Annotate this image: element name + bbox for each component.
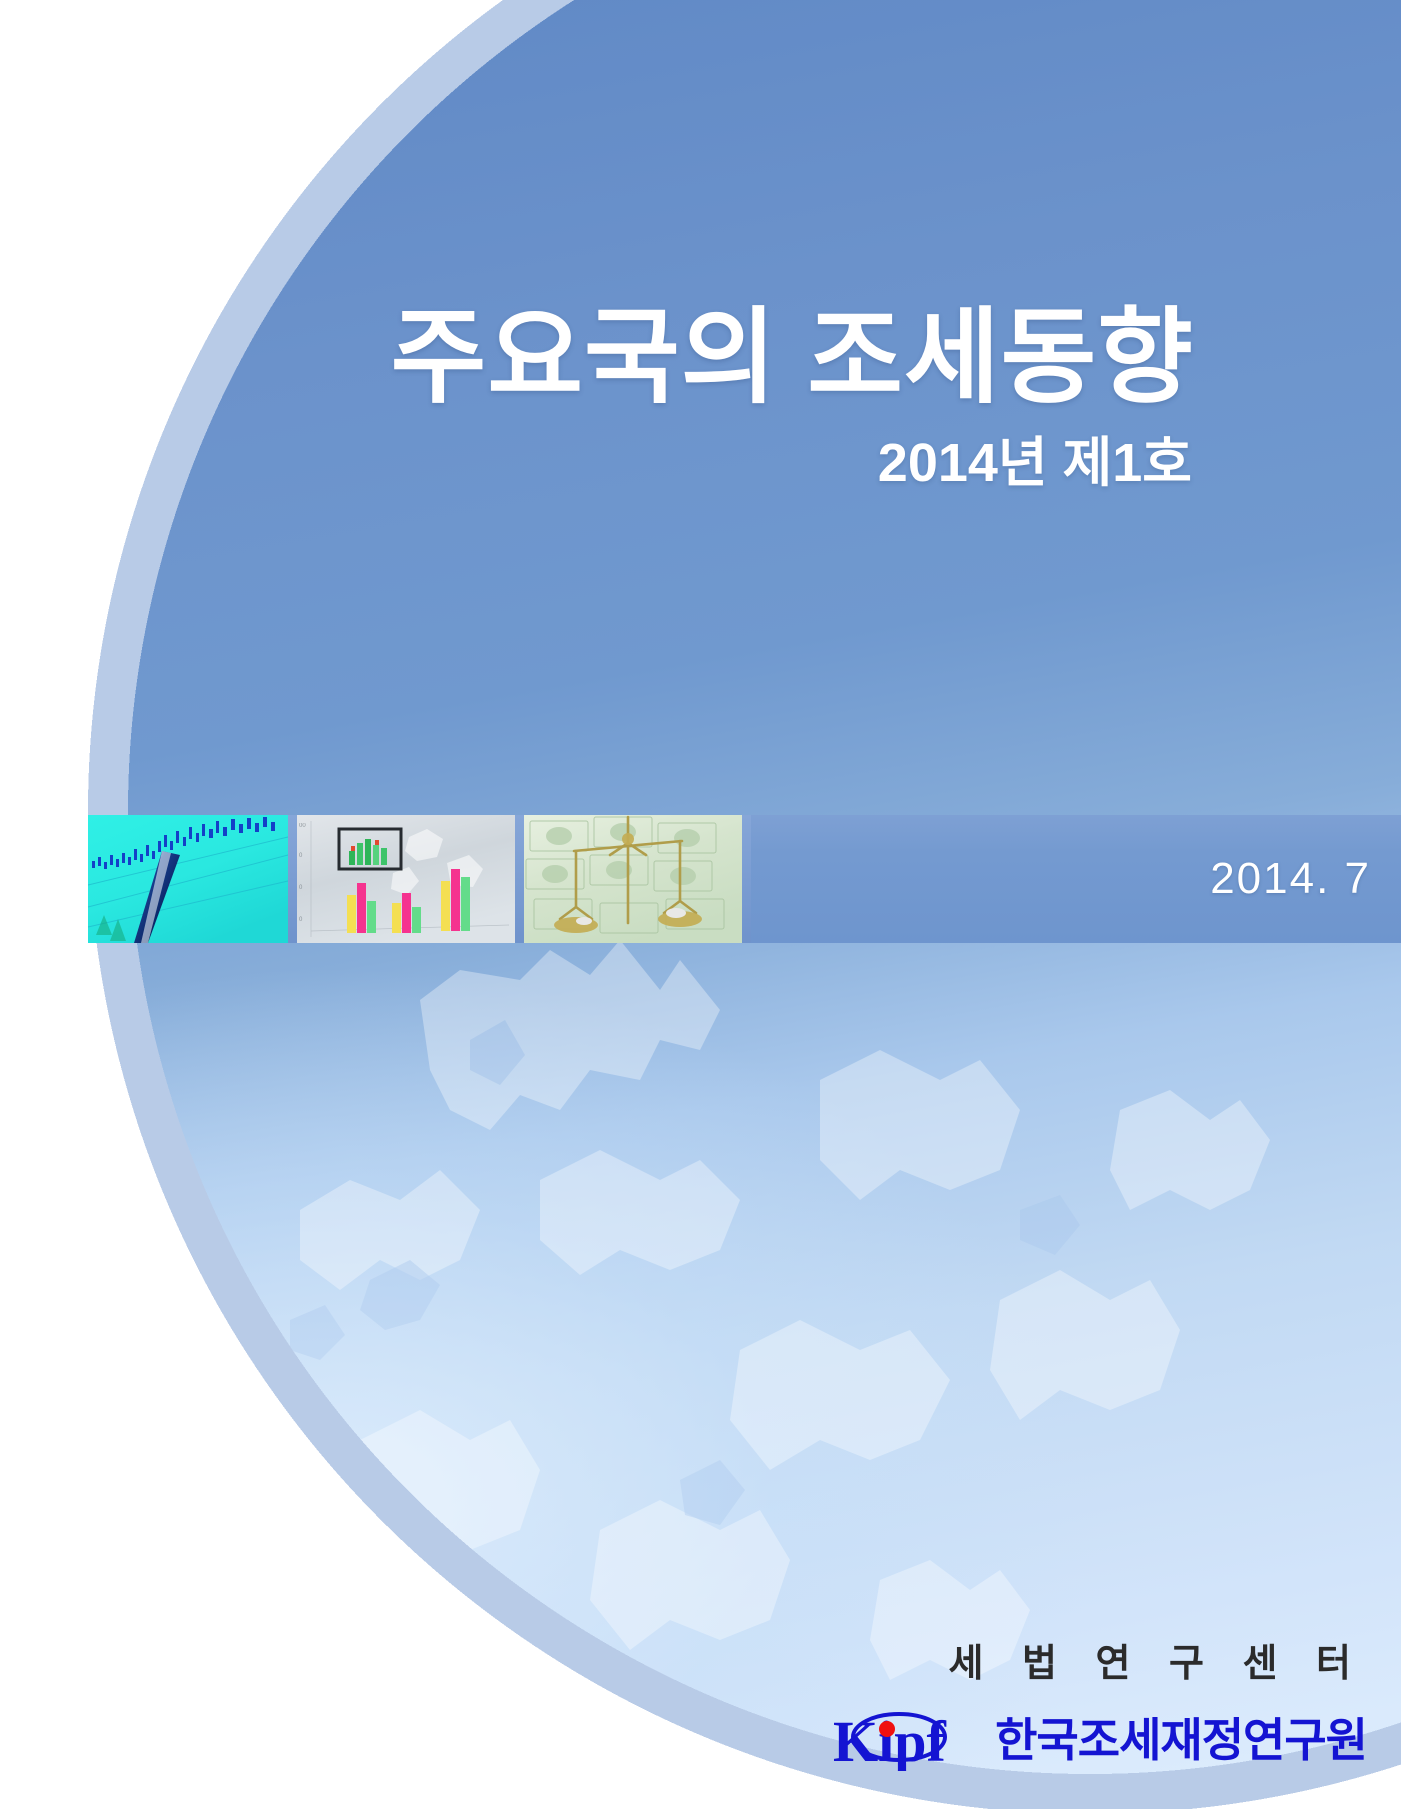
bar-chart-world-map-photo: 00 0 0 0	[297, 815, 515, 943]
world-map-watermark	[120, 880, 1401, 1700]
band-divider	[515, 815, 524, 943]
issue-subtitle: 2014년 제1호	[0, 434, 1216, 493]
institute-logo: Kipf 한국조세재정연구원	[831, 1709, 1367, 1771]
footer: 세 법 연 구 센 터 Kipf 한국조세재정연구원	[831, 1632, 1367, 1771]
band-date-area: 2014. 7	[751, 815, 1401, 943]
title-block: 주요국의 조세동향 2014년 제1호	[0, 300, 1216, 494]
research-center-name: 세 법 연 구 센 터	[831, 1632, 1367, 1687]
kipf-logo-icon: Kipf	[831, 1709, 981, 1771]
svg-text:00: 00	[299, 823, 306, 829]
institute-name: 한국조세재정연구원	[995, 1717, 1367, 1763]
photo-band: 00 0 0 0	[88, 815, 1401, 943]
issue-date: 2014. 7	[1210, 854, 1371, 904]
band-divider	[288, 815, 297, 943]
stock-chart-pen-photo	[88, 815, 288, 943]
cover-page: 주요국의 조세동향 2014년 제1호	[0, 0, 1401, 1809]
balance-scale-money-photo	[524, 815, 742, 943]
page-title: 주요국의 조세동향	[0, 300, 1216, 416]
band-divider	[742, 815, 751, 943]
